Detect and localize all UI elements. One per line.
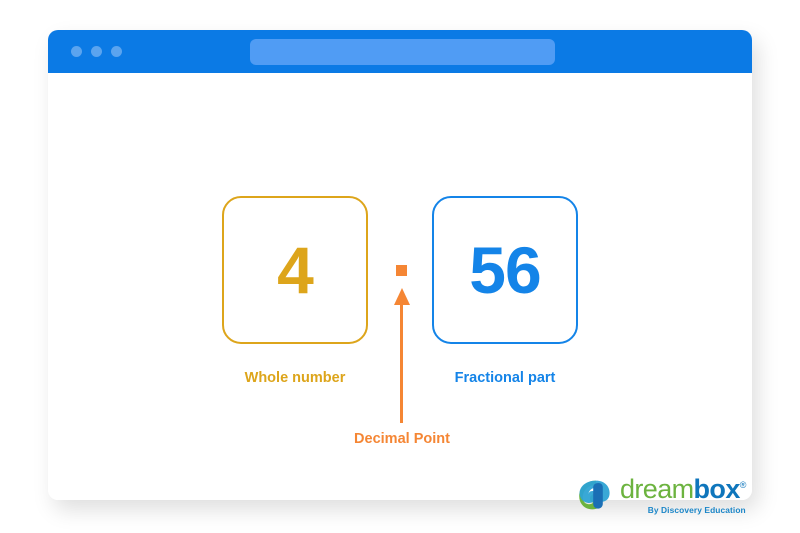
logo-word-dream: dream bbox=[620, 474, 694, 504]
maximize-dot-icon[interactable] bbox=[111, 46, 122, 57]
whole-number-box: 4 bbox=[222, 196, 368, 344]
screenshot-stage: 4 56 Whole number Fractional part Decima… bbox=[0, 0, 800, 533]
browser-window: 4 56 Whole number Fractional part Decima… bbox=[48, 30, 752, 500]
address-bar-input[interactable] bbox=[250, 39, 555, 65]
dreambox-wordmark-block: dreambox® By Discovery Education bbox=[620, 476, 746, 514]
window-controls bbox=[71, 46, 122, 57]
dreambox-logo: dreambox® By Discovery Education bbox=[576, 475, 746, 515]
logo-word-box: box bbox=[694, 474, 740, 504]
whole-number-label: Whole number bbox=[222, 370, 368, 386]
fractional-part-box: 56 bbox=[432, 196, 578, 344]
browser-viewport: 4 56 Whole number Fractional part Decima… bbox=[48, 73, 752, 500]
dreambox-wordmark: dreambox® bbox=[620, 476, 746, 503]
arrow-shaft bbox=[400, 304, 403, 423]
dreambox-tagline: By Discovery Education bbox=[620, 506, 746, 514]
logo-trademark-icon: ® bbox=[740, 480, 746, 490]
browser-chrome-bar bbox=[48, 30, 752, 73]
minimize-dot-icon[interactable] bbox=[91, 46, 102, 57]
arrow-head-icon bbox=[394, 288, 410, 305]
fractional-part-value: 56 bbox=[469, 237, 540, 303]
dreambox-swirl-icon bbox=[576, 475, 616, 515]
fractional-part-label: Fractional part bbox=[432, 370, 578, 386]
whole-number-value: 4 bbox=[277, 237, 313, 303]
close-dot-icon[interactable] bbox=[71, 46, 82, 57]
decimal-point-marker bbox=[396, 265, 407, 276]
decimal-point-arrow-icon bbox=[388, 288, 416, 423]
decimal-point-label: Decimal Point bbox=[302, 431, 502, 447]
